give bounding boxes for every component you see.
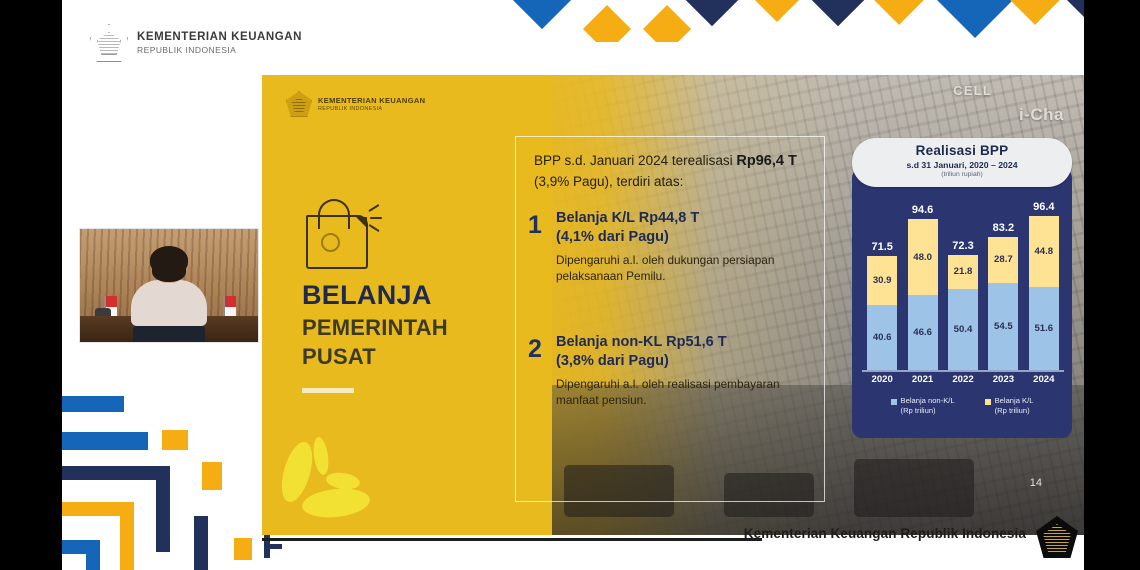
kemenkeu-pentagon-icon bbox=[90, 24, 128, 62]
legend-label: Belanja non-K/L(Rp triliun) bbox=[901, 396, 955, 417]
x-tick-label: 2020 bbox=[872, 374, 893, 385]
item-title-bold: Rp51,6 T bbox=[666, 334, 726, 350]
slide-canvas: KEMENTERIAN KEUANGAN REPUBLIK INDONESIA bbox=[62, 0, 1084, 570]
inner-logo-line2: REPUBLIK INDONESIA bbox=[318, 106, 425, 112]
chevron-shape bbox=[872, 0, 926, 25]
x-tick-label: 2021 bbox=[912, 374, 933, 385]
kemenkeu-pentagon-icon bbox=[286, 91, 312, 117]
legend-swatch bbox=[891, 399, 897, 405]
bar-segment-belanja-kl: 30.9 bbox=[867, 256, 897, 305]
webcam-video-feed[interactable] bbox=[79, 228, 259, 343]
bar-segment-belanja-kl: 21.8 bbox=[948, 255, 978, 290]
bar-total-label: 71.5 bbox=[871, 241, 892, 253]
chevron-shape bbox=[810, 0, 867, 26]
bar-segment-belanja-kl: 48.0 bbox=[908, 219, 938, 296]
top-decoration bbox=[460, 0, 1084, 42]
list-item: 1 Belanja K/L Rp44,8 T (4,1% dari Pagu) … bbox=[528, 209, 820, 285]
lead-bold: Rp96,4 T bbox=[736, 153, 796, 169]
headline-rule bbox=[302, 388, 354, 393]
laptop bbox=[133, 326, 205, 342]
chart-plot-panel: 71.530.940.694.648.046.672.321.850.483.2… bbox=[852, 168, 1072, 438]
chart-subtitle: s.d 31 Januari, 2020 – 2024 bbox=[852, 160, 1072, 170]
bar-segment-belanja-nonkl: 40.6 bbox=[867, 305, 897, 370]
item-title: Belanja non-KL Rp51,6 T (3,8% dari Pagu) bbox=[556, 333, 820, 371]
card-lead-text: BPP s.d. Januari 2024 terealisasi Rp96,4… bbox=[534, 151, 820, 192]
legend-label: Belanja K/L(Rp triliun) bbox=[995, 396, 1034, 417]
diamond-shape bbox=[643, 5, 691, 42]
bar-group: 71.530.940.6 bbox=[867, 256, 897, 370]
chevron-shape bbox=[1065, 0, 1084, 22]
bar-segment-belanja-nonkl: 46.6 bbox=[908, 295, 938, 370]
pattern-bar bbox=[234, 538, 252, 560]
chart-x-tick-labels: 20202021202220232024 bbox=[862, 374, 1064, 390]
text-card: BPP s.d. Januari 2024 terealisasi Rp96,4… bbox=[515, 136, 825, 502]
bar-segment-belanja-nonkl: 51.6 bbox=[1029, 287, 1059, 370]
item-subtext: Dipengaruhi a.l. oleh realisasi pembayar… bbox=[556, 377, 820, 409]
legend-swatch bbox=[985, 399, 991, 405]
chart-axis-line bbox=[862, 370, 1064, 372]
pattern-bar bbox=[120, 502, 134, 570]
pattern-bar bbox=[86, 540, 100, 570]
bar-total-label: 94.6 bbox=[912, 204, 933, 216]
item-title-pre: Belanja K/L bbox=[556, 210, 639, 226]
chart-card: 71.530.940.694.648.046.672.321.850.483.2… bbox=[852, 138, 1072, 438]
bar-group: 83.228.754.5 bbox=[988, 237, 1018, 370]
pattern-bar bbox=[162, 430, 188, 450]
inner-logo-line1: KEMENTERIAN KEUANGAN bbox=[318, 96, 425, 105]
screen: KEMENTERIAN KEUANGAN REPUBLIK INDONESIA bbox=[0, 0, 1140, 570]
header-logo-line1: KEMENTERIAN KEUANGAN bbox=[137, 31, 302, 43]
chevron-shape bbox=[684, 0, 741, 26]
chart-unit-note: (triliun rupiah) bbox=[852, 171, 1072, 178]
chart-title: Realisasi BPP bbox=[852, 143, 1072, 158]
x-tick-label: 2023 bbox=[993, 374, 1014, 385]
bar-total-label: 72.3 bbox=[952, 240, 973, 252]
footer-text: Kementerian Keuangan Republik Indonesia bbox=[744, 526, 1026, 541]
pattern-bar bbox=[202, 462, 222, 490]
item-title-line2: (3,8% dari Pagu) bbox=[556, 353, 669, 369]
bar-segment-belanja-kl: 44.8 bbox=[1029, 216, 1059, 288]
panel-headline: BELANJA PEMERINTAH PUSAT bbox=[302, 280, 542, 393]
leaf-decoration bbox=[284, 431, 404, 523]
pattern-bar bbox=[156, 466, 170, 552]
item-title-line2: (4,1% dari Pagu) bbox=[556, 229, 669, 245]
bar-group: 94.648.046.6 bbox=[908, 219, 938, 370]
chevron-shape bbox=[511, 0, 573, 29]
item-title: Belanja K/L Rp44,8 T (4,1% dari Pagu) bbox=[556, 209, 820, 247]
legend-entry: Belanja non-K/L(Rp triliun) bbox=[891, 396, 955, 417]
shopping-bag-icon bbox=[302, 193, 380, 271]
chart-legend: Belanja non-K/L(Rp triliun)Belanja K/L(R… bbox=[852, 396, 1072, 417]
speaker-figure bbox=[131, 251, 207, 326]
slide-footer: Kementerian Keuangan Republik Indonesia bbox=[262, 526, 1084, 552]
headline-line3: PUSAT bbox=[302, 344, 542, 369]
diamond-shape bbox=[583, 5, 631, 42]
lead-pre: BPP s.d. Januari 2024 terealisasi bbox=[534, 153, 736, 168]
legend-entry: Belanja K/L(Rp triliun) bbox=[985, 396, 1034, 417]
bar-segment-belanja-kl: 28.7 bbox=[988, 237, 1018, 283]
pattern-bar bbox=[194, 516, 208, 570]
bar-group: 72.321.850.4 bbox=[948, 255, 978, 371]
bar-segment-belanja-nonkl: 54.5 bbox=[988, 283, 1018, 370]
bar-total-label: 83.2 bbox=[993, 222, 1014, 234]
bar-total-label: 96.4 bbox=[1033, 201, 1054, 213]
slide-inner-logo: KEMENTERIAN KEUANGAN REPUBLIK INDONESIA bbox=[286, 91, 425, 117]
shop-sign-cell: CELL bbox=[953, 83, 992, 98]
bar-segment-belanja-nonkl: 50.4 bbox=[948, 289, 978, 370]
item-number: 2 bbox=[528, 335, 542, 364]
pattern-bar bbox=[62, 396, 124, 412]
chart-bars: 71.530.940.694.648.046.672.321.850.483.2… bbox=[862, 210, 1064, 370]
chart-header: Realisasi BPP s.d 31 Januari, 2020 – 202… bbox=[852, 138, 1072, 187]
vehicle bbox=[854, 459, 974, 517]
pattern-bar bbox=[62, 466, 170, 480]
x-tick-label: 2022 bbox=[952, 374, 973, 385]
page-number: 14 bbox=[1030, 477, 1042, 489]
chevron-shape bbox=[753, 0, 801, 22]
bar-group: 96.444.851.6 bbox=[1029, 216, 1059, 370]
indonesian-flag-right bbox=[225, 296, 236, 318]
lead-post: (3,9% Pagu), terdiri atas: bbox=[534, 174, 683, 189]
pattern-bar bbox=[62, 432, 148, 450]
headline-line2: PEMERINTAH bbox=[302, 315, 542, 340]
x-tick-label: 2024 bbox=[1033, 374, 1054, 385]
list-item: 2 Belanja non-KL Rp51,6 T (3,8% dari Pag… bbox=[528, 333, 820, 409]
chevron-shape bbox=[1008, 0, 1062, 25]
chevron-shape bbox=[934, 0, 1016, 38]
item-number: 1 bbox=[528, 211, 542, 240]
item-title-bold: Rp44,8 T bbox=[639, 210, 699, 226]
item-subtext: Dipengaruhi a.l. oleh dukungan persiapan… bbox=[556, 253, 820, 285]
geometric-pattern-decoration bbox=[62, 388, 282, 570]
shop-sign-icha: i-Cha bbox=[1019, 105, 1064, 125]
header-logo: KEMENTERIAN KEUANGAN REPUBLIK INDONESIA bbox=[90, 24, 302, 62]
footer-rule bbox=[262, 538, 762, 541]
slide-content-panel: CELL i-Cha KEMENTERIAN KEUANGAN REPUBLIK… bbox=[262, 75, 1084, 535]
item-title-pre: Belanja non-KL bbox=[556, 334, 666, 350]
headline-line1: BELANJA bbox=[302, 280, 542, 311]
header-logo-line2: REPUBLIK INDONESIA bbox=[137, 45, 302, 55]
